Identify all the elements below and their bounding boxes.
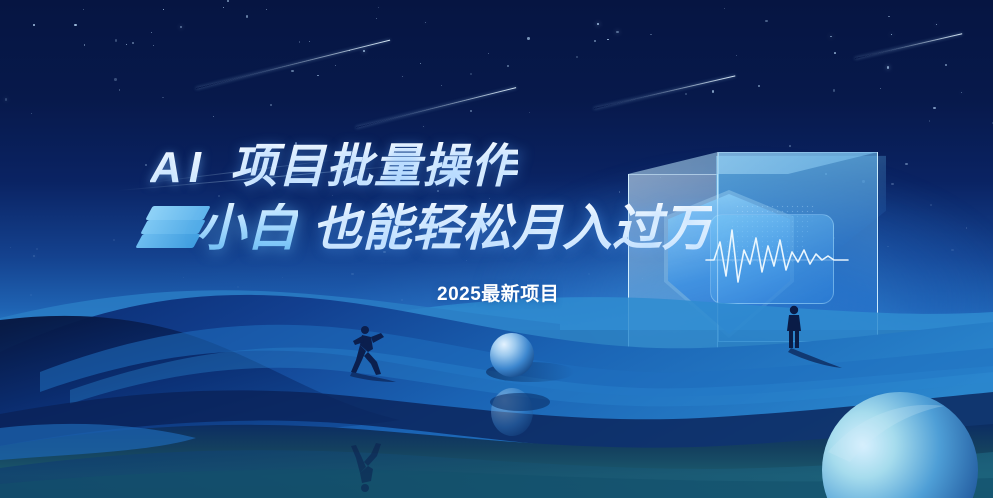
reflection-shade	[490, 393, 550, 411]
promo-poster: AI 项目批量操作 小白 也能轻松月入过万 2025最新项目	[0, 0, 993, 498]
small-sphere	[490, 333, 534, 377]
landscape-scene	[0, 0, 993, 498]
